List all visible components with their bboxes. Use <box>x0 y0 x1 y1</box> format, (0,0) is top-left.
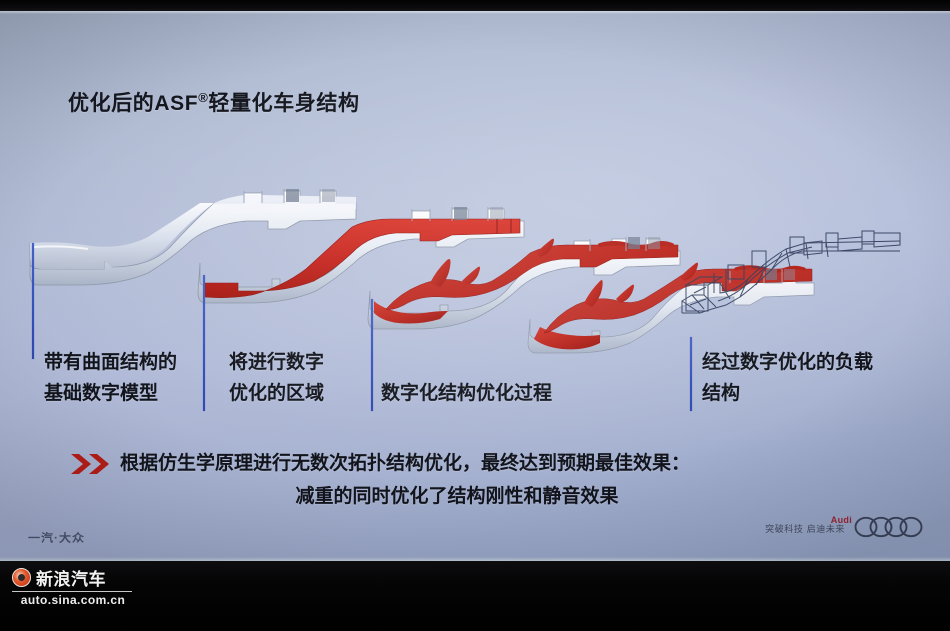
audi-wordmark: Audi <box>831 515 852 525</box>
registered-trademark-icon: ® <box>198 90 208 105</box>
conclusion-line-2: 减重的同时优化了结构刚性和静音效果 <box>120 480 880 513</box>
sina-eye-icon <box>12 568 31 587</box>
conclusion-text: 根据仿生学原理进行无数次拓扑结构优化，最终达到预期最佳效果： 减重的同时优化了结… <box>120 447 880 513</box>
watermark-url: auto.sina.com.cn <box>12 591 132 607</box>
faw-volkswagen-logo: 一汽·大众 <box>28 530 85 546</box>
audi-brand-block: 突破科技 启迪未来 Audi <box>765 516 928 538</box>
watermark-row: 新浪汽车 <box>12 565 132 590</box>
connector-line-4 <box>690 337 692 411</box>
slide-top-edge <box>0 11 950 14</box>
connector-line-2 <box>203 275 205 411</box>
letterbox-bar-top <box>0 0 950 11</box>
double-chevron-right-icon <box>70 452 116 476</box>
watermark-site-name: 新浪汽车 <box>36 565 106 590</box>
slide-title-main: 优化后的ASF <box>68 92 198 115</box>
sina-auto-watermark: 新浪汽车 auto.sina.com.cn <box>12 565 132 607</box>
conclusion-line-1: 根据仿生学原理进行无数次拓扑结构优化，最终达到预期最佳效果： <box>120 447 880 480</box>
topology-optimisation-illustration <box>0 133 950 473</box>
stage-2-caption: 将进行数字 优化的区域 <box>229 347 324 409</box>
letterbox-bar-bottom <box>0 561 950 631</box>
stage-4-graphic <box>528 263 814 353</box>
audi-rings-icon <box>854 516 928 538</box>
screenshot-frame: 优化后的ASF®轻量化车身结构 <box>0 0 950 631</box>
stage-3-caption: 数字化结构优化过程 <box>381 378 552 409</box>
slide-title-tail: 轻量化车身结构 <box>208 92 359 115</box>
stage-4-caption: 经过数字优化的负载 结构 <box>702 347 873 409</box>
connector-line-3 <box>371 299 373 411</box>
slide-title: 优化后的ASF®轻量化车身结构 <box>68 87 360 117</box>
presentation-slide: 优化后的ASF®轻量化车身结构 <box>0 11 950 561</box>
connector-line-1 <box>32 243 34 359</box>
stage-1-caption: 带有曲面结构的 基础数字模型 <box>44 347 177 409</box>
